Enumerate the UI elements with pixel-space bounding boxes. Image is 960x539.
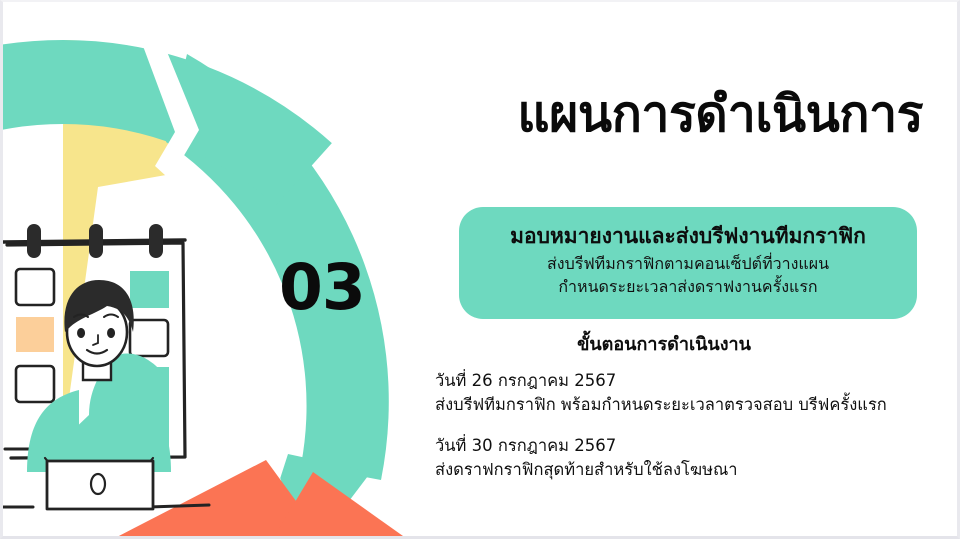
calendar-board-illustration bbox=[3, 224, 209, 507]
entry-date: วันที่ 26 กรกฎาคม 2567 bbox=[435, 369, 905, 393]
binder-ring-3 bbox=[149, 224, 163, 258]
callout-box: มอบหมายงานและส่งบรีฟงานทีมกราฟิก ส่งบรีฟ… bbox=[459, 207, 917, 319]
teal-arrow-tip bbox=[261, 454, 371, 538]
yellow-teal-separator bbox=[143, 42, 217, 206]
person-body-extend-right bbox=[123, 392, 171, 472]
sticky-note-teal-1 bbox=[130, 271, 169, 308]
person-eye-left bbox=[77, 328, 85, 338]
decorative-graphic bbox=[3, 2, 433, 538]
person-body bbox=[29, 354, 169, 472]
binder-ring-2 bbox=[89, 224, 103, 258]
person-neck bbox=[83, 354, 111, 380]
presentation-slide: 03 แผนการดำเนินการ มอบหมายงานและส่งบรีฟง… bbox=[0, 0, 960, 539]
person-face bbox=[67, 298, 127, 366]
sticky-note-teal-2 bbox=[73, 317, 112, 354]
person-arm-right bbox=[139, 458, 153, 470]
person-illustration bbox=[27, 280, 171, 509]
sticky-note-teal-3 bbox=[130, 367, 169, 404]
entry-description: ส่งบรีฟทีมกราฟิก พร้อมกำหนดระยะเวลาตรวจส… bbox=[435, 393, 905, 417]
coral-triangle-shape bbox=[115, 460, 323, 538]
laptop-logo bbox=[91, 474, 105, 494]
desk-line-right bbox=[149, 505, 209, 507]
person-arm-left bbox=[45, 458, 59, 470]
sticky-note-white-3 bbox=[16, 366, 54, 402]
laptop-screen bbox=[47, 461, 153, 509]
person-brow-right bbox=[104, 315, 118, 318]
person-nose bbox=[93, 335, 98, 345]
binder-ring-1 bbox=[27, 224, 41, 258]
person-body-extend bbox=[27, 390, 79, 472]
callout-heading: มอบหมายงานและส่งบรีฟงานทีมกราฟิก bbox=[510, 223, 866, 250]
sticky-note-peach-1 bbox=[16, 317, 54, 352]
sticky-note-white-1 bbox=[16, 269, 54, 305]
board-outline bbox=[7, 243, 185, 458]
yellow-wedge-shape bbox=[63, 40, 183, 442]
entry-description: ส่งดราฟกราฟิกสุดท้ายสำหรับใช้ลงโฆษณา bbox=[435, 458, 905, 482]
person-brow-left bbox=[74, 315, 88, 318]
coral-triangle-right-shape bbox=[271, 472, 403, 538]
page-title: แผนการดำเนินการ bbox=[423, 86, 923, 142]
callout-line-2: กำหนดระยะเวลาส่งดราฟงานครั้งแรก bbox=[558, 276, 817, 299]
step-number: 03 bbox=[279, 256, 365, 319]
list-item: วันที่ 26 กรกฎาคม 2567 ส่งบรีฟทีมกราฟิก … bbox=[435, 369, 905, 417]
entry-date: วันที่ 30 กรกฎาคม 2567 bbox=[435, 434, 905, 458]
person-hair bbox=[64, 280, 133, 332]
steps-section-heading: ขั้นตอนการดำเนินงาน bbox=[433, 333, 895, 356]
person-mouth bbox=[87, 350, 107, 354]
sticky-note-white-2 bbox=[130, 320, 168, 356]
steps-list: วันที่ 26 กรกฎาคม 2567 ส่งบรีฟทีมกราฟิก … bbox=[435, 369, 905, 482]
list-item: วันที่ 30 กรกฎาคม 2567 ส่งดราฟกราฟิกสุดท… bbox=[435, 434, 905, 482]
callout-line-1: ส่งบรีฟทีมกราฟิกตามคอนเซ็ปต์ที่วางแผน bbox=[547, 253, 829, 276]
person-eye-right bbox=[107, 328, 115, 338]
board-top-rail bbox=[3, 240, 185, 242]
teal-coral-separator bbox=[235, 454, 303, 538]
